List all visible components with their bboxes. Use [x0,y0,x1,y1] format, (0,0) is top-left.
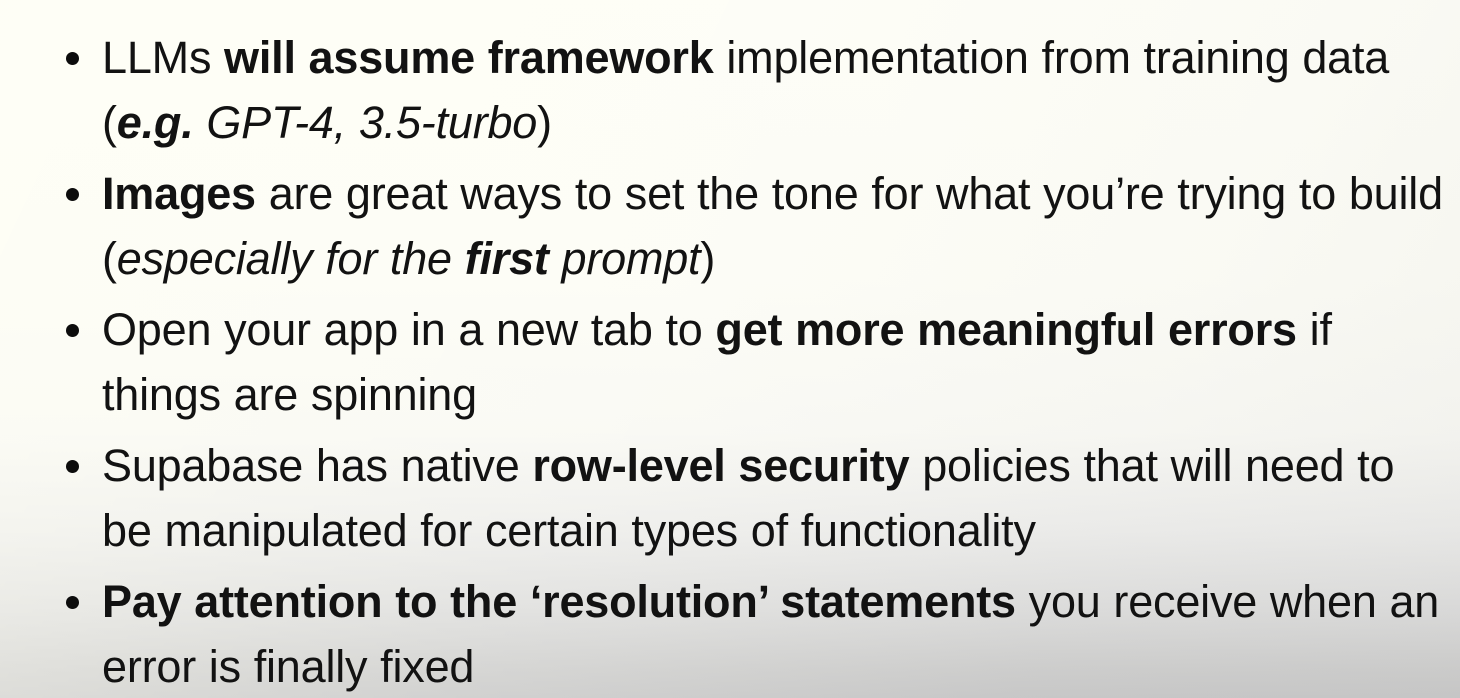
text-run-bold-italic: first [465,233,549,284]
text-run-italic: prompt [549,233,701,284]
bullet-resolution-statements: Pay attention to the ‘resolution’ statem… [58,570,1446,698]
text-run-bold-italic: e.g. [117,97,194,148]
bullet-text: Open your app in a new tab to get more m… [102,304,1332,420]
bullet-open-new-tab: Open your app in a new tab to get more m… [58,298,1446,427]
bullet-text: Pay attention to the ‘resolution’ statem… [102,576,1439,692]
bullet-dot-icon [66,324,79,337]
bullet-llms-assume-framework: LLMs will assume framework implementatio… [58,26,1446,155]
text-run-regular: Open your app in a new tab to [102,304,715,355]
text-run-regular: ) [537,97,552,148]
text-run-italic: GPT-4, 3.5-turbo [194,97,538,148]
slide-canvas: LLMs will assume framework implementatio… [0,0,1460,698]
text-run-bold: row-level security [532,440,909,491]
text-run-regular: Supabase has native [102,440,532,491]
text-run-regular: ) [700,233,715,284]
bullet-list: LLMs will assume framework implementatio… [0,0,1460,698]
bullet-dot-icon [66,460,79,473]
bullet-supabase-rls: Supabase has native row-level security p… [58,434,1446,563]
bullet-images-set-tone: Images are great ways to set the tone fo… [58,162,1446,291]
bullet-dot-icon [66,52,79,65]
text-run-bold: will assume framework [224,32,714,83]
bullet-dot-icon [66,188,79,201]
text-run-bold: Pay attention to the ‘resolution’ statem… [102,576,1016,627]
text-run-bold: get more meaningful errors [715,304,1296,355]
bullet-text: Images are great ways to set the tone fo… [102,168,1443,284]
bullet-text: Supabase has native row-level security p… [102,440,1394,556]
text-run-regular: LLMs [102,32,224,83]
bullet-text: LLMs will assume framework implementatio… [102,32,1389,148]
text-run-bold: Images [102,168,256,219]
text-run-italic: especially for the [117,233,465,284]
bullet-dot-icon [66,596,79,609]
